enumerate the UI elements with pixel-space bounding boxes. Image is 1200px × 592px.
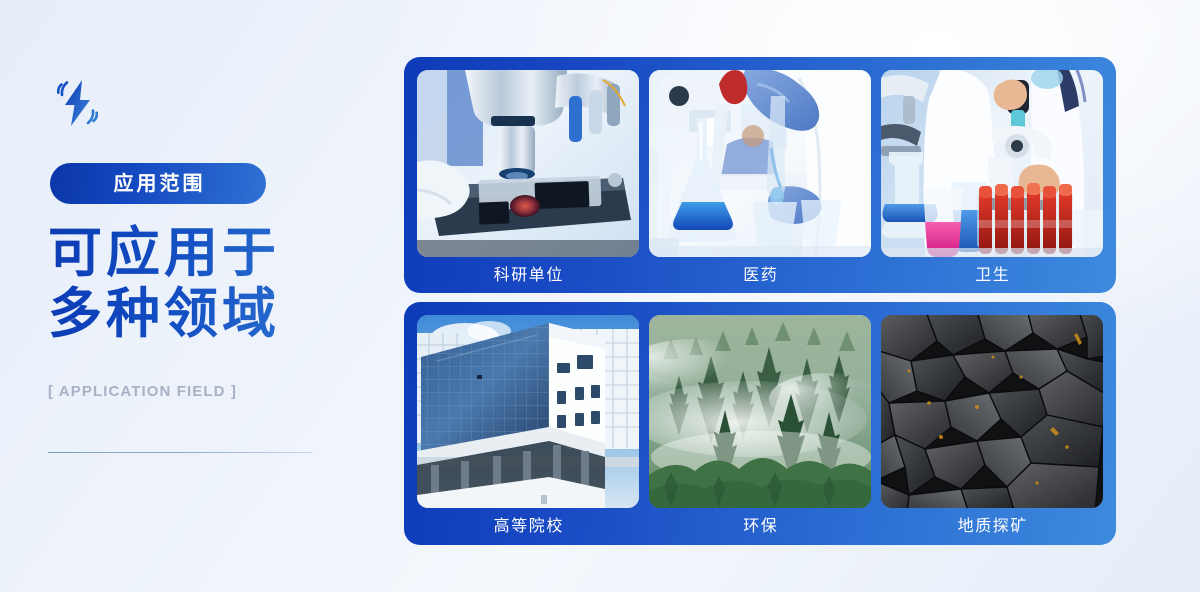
application-card-label: 环保	[742, 517, 779, 536]
divider	[48, 452, 313, 453]
application-grid: 科研单位	[404, 57, 1116, 545]
coal-rocks-photo	[881, 315, 1103, 508]
page-subtitle: [ APPLICATION FIELD ]	[48, 383, 237, 400]
application-card-label: 高等院校	[492, 517, 564, 536]
application-card-pharmacy[interactable]: 医药	[649, 70, 871, 293]
application-card-university[interactable]: 高等院校	[417, 315, 639, 545]
blood-test-tubes-photo	[881, 70, 1103, 257]
application-card-geology[interactable]: 地质探矿	[881, 315, 1103, 545]
section-badge-label: 应用范围	[111, 174, 206, 194]
application-row-2: 高等院校	[404, 302, 1116, 545]
application-card-environment[interactable]: 环保	[649, 315, 871, 545]
laboratory-pipette-flask-photo	[649, 70, 871, 257]
application-row-1: 科研单位	[404, 57, 1116, 293]
application-card-health[interactable]: 卫生	[881, 70, 1103, 293]
headline-line-2: 多种领域	[48, 283, 388, 346]
page-title: 可应用于 多种领域	[48, 222, 388, 345]
left-panel: 应用范围 可应用于 多种领域 [ APPLICATION FIELD ]	[0, 0, 404, 592]
university-building-photo	[417, 315, 639, 508]
application-card-label: 卫生	[974, 266, 1011, 285]
microscope-slide-photo	[417, 70, 639, 257]
section-badge: 应用范围	[50, 163, 266, 204]
application-card-label: 科研单位	[492, 266, 564, 285]
application-card-research[interactable]: 科研单位	[417, 70, 639, 293]
application-card-label: 医药	[742, 266, 779, 285]
lightning-signal-icon	[52, 78, 104, 128]
headline-line-1: 可应用于	[48, 222, 388, 285]
misty-forest-photo	[649, 315, 871, 508]
application-card-label: 地质探矿	[956, 517, 1028, 536]
